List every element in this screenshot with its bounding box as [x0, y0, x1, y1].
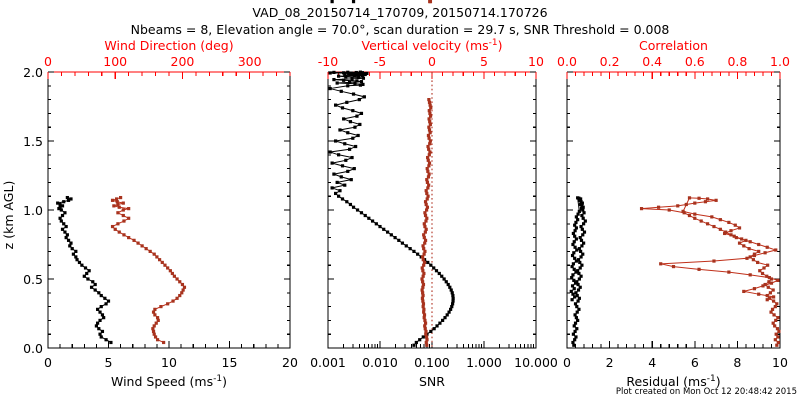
x-tick-label: 4	[648, 355, 656, 370]
data-point-marker	[581, 233, 584, 236]
x-top-tick-label: 200	[171, 54, 195, 69]
data-point-marker	[341, 106, 344, 109]
data-point-marker	[418, 338, 421, 341]
data-point-marker	[584, 219, 587, 222]
data-point-marker	[573, 324, 576, 327]
data-point-marker	[71, 247, 74, 250]
figure-title-line2: Nbeams = 8, Elevation angle = 70.0°, sca…	[131, 22, 670, 37]
data-point-marker	[423, 324, 426, 327]
data-point-marker	[425, 189, 428, 192]
data-point-marker	[88, 269, 91, 272]
data-point-marker	[331, 0, 334, 3]
data-point-marker	[422, 233, 425, 236]
data-point-marker	[367, 217, 370, 220]
data-point-marker	[693, 217, 696, 220]
data-point-marker	[425, 217, 428, 220]
data-point-marker	[348, 81, 351, 84]
data-point-marker	[338, 189, 341, 192]
data-point-marker	[357, 134, 360, 137]
data-point-marker	[329, 87, 332, 90]
data-point-marker	[420, 277, 423, 280]
data-point-marker	[166, 266, 169, 269]
data-point-marker	[118, 230, 121, 233]
data-point-marker	[423, 261, 426, 264]
data-point-marker	[425, 344, 428, 347]
data-point-marker	[427, 148, 430, 151]
data-point-marker	[576, 213, 579, 216]
data-point-marker	[423, 250, 426, 253]
data-point-marker	[574, 335, 577, 338]
data-point-marker	[573, 246, 576, 249]
data-point-marker	[676, 204, 679, 207]
x-tick-label: 10.000	[514, 355, 558, 370]
data-point-marker	[659, 262, 662, 265]
data-point-marker	[426, 167, 429, 170]
x-top-tick-label: -10	[318, 54, 338, 69]
data-point-marker	[572, 279, 575, 282]
data-point-marker	[757, 250, 760, 253]
data-point-marker	[425, 338, 428, 341]
data-point-marker	[579, 255, 582, 258]
data-point-marker	[96, 322, 99, 325]
data-point-marker	[346, 170, 349, 173]
data-point-marker	[348, 148, 351, 151]
data-point-marker	[401, 242, 404, 245]
data-point-marker	[141, 244, 144, 247]
data-point-marker	[578, 277, 581, 280]
data-point-marker	[450, 288, 453, 291]
data-point-marker	[83, 275, 86, 278]
data-point-marker	[94, 288, 97, 291]
data-point-marker	[571, 341, 574, 344]
data-point-marker	[582, 222, 585, 225]
data-point-marker	[428, 161, 431, 164]
data-point-marker	[574, 291, 577, 294]
x-tick-label: 8	[733, 355, 741, 370]
data-point-marker	[337, 75, 340, 78]
x-top-tick-label: 0.2	[600, 54, 620, 69]
data-point-marker	[342, 71, 345, 74]
data-point-marker	[700, 219, 703, 222]
data-point-marker	[116, 211, 119, 214]
data-point-marker	[422, 311, 425, 314]
data-point-marker	[688, 196, 691, 199]
data-point-marker	[109, 341, 112, 344]
data-point-marker	[163, 264, 166, 267]
data-point-marker	[428, 112, 431, 115]
data-point-marker	[697, 268, 700, 271]
data-point-marker	[740, 237, 743, 240]
data-point-marker	[441, 319, 444, 322]
data-point-marker	[115, 197, 118, 200]
data-point-marker	[351, 109, 354, 112]
data-point-marker	[575, 215, 578, 218]
data-point-marker	[338, 128, 341, 131]
x-top-tick-label: 0	[44, 54, 52, 69]
data-point-marker	[767, 286, 770, 289]
data-point-marker	[428, 120, 431, 123]
data-point-marker	[360, 80, 363, 83]
data-point-marker	[578, 210, 581, 213]
x-top-axis-label: Correlation	[639, 38, 708, 53]
y-tick-label: 1.0	[23, 203, 43, 218]
data-point-marker	[451, 302, 454, 305]
x-tick-label: 2	[606, 355, 614, 370]
x-tick-label: 20	[282, 355, 298, 370]
data-point-marker	[344, 159, 347, 162]
data-point-marker	[447, 311, 450, 314]
data-point-marker	[571, 298, 574, 301]
data-point-marker	[342, 79, 345, 82]
data-point-marker	[443, 316, 446, 319]
data-point-marker	[451, 291, 454, 294]
data-point-marker	[360, 112, 363, 115]
data-point-marker	[768, 276, 771, 279]
data-point-marker	[422, 308, 425, 311]
data-point-marker	[770, 282, 773, 285]
data-point-marker	[427, 134, 430, 137]
data-point-marker	[440, 275, 443, 278]
data-point-marker	[371, 219, 374, 222]
data-point-marker	[421, 286, 424, 289]
data-point-marker	[428, 153, 431, 156]
data-point-marker	[426, 170, 429, 173]
data-point-marker	[107, 299, 110, 302]
data-point-marker	[334, 192, 337, 195]
data-point-marker	[729, 229, 732, 232]
x-tick-label: 10	[772, 355, 788, 370]
data-point-marker	[116, 203, 119, 206]
data-point-marker	[762, 266, 765, 269]
data-point-marker	[364, 214, 367, 217]
data-point-marker	[425, 192, 428, 195]
data-point-marker	[422, 275, 425, 278]
data-point-marker	[451, 294, 454, 297]
data-point-marker	[573, 224, 576, 227]
data-point-marker	[429, 139, 432, 142]
data-point-marker	[742, 244, 745, 247]
data-point-marker	[100, 335, 103, 338]
data-point-marker	[149, 250, 152, 253]
data-point-marker	[749, 240, 752, 243]
data-point-marker	[69, 197, 72, 200]
data-point-marker	[426, 195, 429, 198]
data-point-marker	[424, 333, 427, 336]
data-point-marker	[421, 255, 424, 258]
data-point-marker	[405, 244, 408, 247]
data-point-marker	[375, 222, 378, 225]
data-point-marker	[95, 324, 98, 327]
svg-text:Wind Speed (ms-1): Wind Speed (ms-1)	[111, 374, 227, 389]
data-point-marker	[122, 208, 125, 211]
data-point-marker	[571, 243, 574, 246]
data-point-marker	[72, 253, 75, 256]
figure-title-line1: VAD_08_20150714_170709, 20150714.170726	[252, 5, 547, 20]
data-point-marker	[346, 131, 349, 134]
data-point-marker	[712, 225, 715, 228]
data-point-marker	[657, 206, 660, 209]
data-point-marker	[574, 322, 577, 325]
data-point-marker	[145, 247, 148, 250]
data-point-marker	[435, 324, 438, 327]
data-point-marker	[428, 0, 431, 3]
svg-text:Correlation: Correlation	[639, 38, 708, 53]
data-point-marker	[571, 284, 574, 287]
data-point-marker	[423, 222, 426, 225]
data-point-marker	[426, 145, 429, 148]
data-point-marker	[704, 200, 707, 203]
data-point-marker	[409, 247, 412, 250]
data-point-marker	[752, 258, 755, 261]
data-point-marker	[579, 250, 582, 253]
data-point-marker	[422, 283, 425, 286]
x-top-tick-label: 0.8	[727, 54, 747, 69]
data-point-marker	[424, 219, 427, 222]
svg-text:SNR: SNR	[419, 374, 445, 389]
data-point-marker	[693, 213, 696, 216]
data-point-marker	[572, 344, 575, 347]
data-point-marker	[733, 235, 736, 238]
x-tick-label: 1.000	[466, 355, 502, 370]
data-point-marker	[428, 109, 431, 112]
data-point-marker	[571, 254, 574, 257]
data-point-marker	[132, 239, 135, 242]
data-point-marker	[744, 239, 747, 242]
data-point-marker	[429, 115, 432, 118]
data-point-marker	[582, 242, 585, 245]
data-point-marker	[422, 305, 425, 308]
data-point-marker	[422, 272, 425, 275]
data-point-marker	[576, 218, 579, 221]
data-point-marker	[178, 280, 181, 283]
data-point-marker	[111, 225, 114, 228]
data-point-marker	[756, 261, 759, 264]
data-point-marker	[355, 71, 358, 74]
data-point-marker	[332, 71, 335, 74]
x-top-tick-label: 0.0	[557, 54, 577, 69]
data-point-marker	[122, 233, 125, 236]
data-point-marker	[63, 211, 66, 214]
data-point-marker	[574, 282, 577, 285]
data-point-marker	[426, 186, 429, 189]
x-tick-label: 0.100	[414, 355, 450, 370]
data-point-marker	[688, 214, 691, 217]
vad-profile-figure: VAD_08_20150714_170709, 20150714.170726 …	[0, 0, 800, 400]
data-point-marker	[452, 297, 455, 300]
data-point-marker	[772, 313, 775, 316]
data-point-marker	[572, 333, 575, 336]
data-point-marker	[378, 225, 381, 228]
data-point-marker	[448, 286, 451, 289]
data-point-marker	[365, 72, 368, 75]
data-point-marker	[774, 319, 777, 322]
data-point-marker	[423, 242, 426, 245]
data-point-marker	[772, 322, 775, 325]
data-point-marker	[576, 311, 579, 314]
data-point-marker	[775, 333, 778, 336]
data-point-marker	[573, 229, 576, 232]
data-point-marker	[423, 253, 426, 256]
data-point-marker	[426, 261, 429, 264]
data-point-marker	[575, 248, 578, 251]
data-point-marker	[571, 293, 574, 296]
data-point-marker	[573, 338, 576, 341]
data-point-marker	[738, 242, 741, 245]
data-point-marker	[427, 137, 430, 140]
data-point-marker	[423, 211, 426, 214]
data-point-marker	[426, 206, 429, 209]
data-point-marker	[353, 167, 356, 170]
data-point-marker	[640, 207, 643, 210]
data-point-marker	[180, 291, 183, 294]
data-point-marker	[112, 204, 115, 207]
data-point-marker	[423, 313, 426, 316]
data-point-marker	[580, 239, 583, 242]
data-point-marker	[155, 255, 158, 258]
data-point-marker	[353, 126, 356, 129]
data-point-marker	[579, 266, 582, 269]
data-point-marker	[570, 290, 573, 293]
data-point-marker	[349, 120, 352, 123]
data-point-marker	[574, 271, 577, 274]
data-point-marker	[152, 311, 155, 314]
data-point-marker	[668, 208, 671, 211]
x-tick-label: 0	[563, 355, 571, 370]
data-point-marker	[421, 266, 424, 269]
data-point-marker	[331, 186, 334, 189]
data-point-marker	[774, 338, 777, 341]
data-point-marker	[706, 197, 709, 200]
data-point-marker	[681, 210, 684, 213]
data-point-marker	[332, 173, 335, 176]
data-point-marker	[158, 258, 161, 261]
data-point-marker	[412, 344, 415, 347]
data-point-marker	[421, 294, 424, 297]
data-point-marker	[575, 327, 578, 330]
data-point-marker	[573, 313, 576, 316]
figure-canvas: VAD_08_20150714_170709, 20150714.170726 …	[0, 0, 800, 400]
data-point-marker	[422, 247, 425, 250]
data-point-marker	[423, 236, 426, 239]
data-point-marker	[772, 299, 775, 302]
x-top-tick-label: 100	[103, 54, 127, 69]
data-point-marker	[56, 202, 59, 205]
data-point-marker	[85, 272, 88, 275]
data-point-marker	[425, 178, 428, 181]
data-point-marker	[127, 236, 130, 239]
data-point-marker	[336, 81, 339, 84]
data-point-marker	[761, 272, 764, 275]
data-point-marker	[573, 257, 576, 260]
data-point-marker	[422, 258, 425, 261]
data-point-marker	[156, 338, 159, 341]
data-point-marker	[424, 327, 427, 330]
data-point-marker	[772, 295, 775, 298]
data-point-marker	[350, 156, 353, 159]
data-point-marker	[61, 228, 64, 231]
data-point-marker	[573, 240, 576, 243]
data-point-marker	[769, 311, 772, 314]
data-point-marker	[90, 286, 93, 289]
data-point-marker	[776, 316, 779, 319]
data-point-marker	[574, 302, 577, 305]
data-point-marker	[749, 273, 752, 276]
data-point-marker	[771, 308, 774, 311]
data-point-marker	[169, 269, 172, 272]
data-point-marker	[435, 269, 438, 272]
data-point-marker	[776, 279, 779, 282]
data-point-marker	[425, 208, 428, 211]
data-point-marker	[332, 78, 335, 81]
data-point-marker	[428, 101, 431, 104]
data-point-marker	[412, 250, 415, 253]
data-point-marker	[424, 330, 427, 333]
data-point-marker	[576, 299, 579, 302]
data-point-marker	[119, 196, 122, 199]
data-point-marker	[359, 71, 362, 74]
data-point-marker	[127, 217, 130, 220]
svg-text:Vertical velocity (ms-1): Vertical velocity (ms-1)	[361, 38, 502, 53]
data-point-marker	[416, 253, 419, 256]
data-point-marker	[390, 233, 393, 236]
data-point-marker	[445, 280, 448, 283]
data-point-marker	[429, 131, 432, 134]
data-point-marker	[355, 115, 358, 118]
data-point-marker	[582, 211, 585, 214]
data-point-marker	[104, 338, 107, 341]
x-top-tick-label: 1.0	[770, 54, 790, 69]
data-point-marker	[422, 335, 425, 338]
data-point-marker	[757, 243, 760, 246]
data-point-marker	[719, 218, 722, 221]
data-point-marker	[425, 341, 428, 344]
y-tick-label: 0.0	[23, 341, 43, 356]
data-point-marker	[352, 206, 355, 209]
data-point-marker	[153, 333, 156, 336]
data-point-marker	[340, 90, 343, 93]
data-point-marker	[159, 305, 162, 308]
data-point-marker	[171, 272, 174, 275]
data-point-marker	[766, 298, 769, 301]
data-point-marker	[67, 239, 70, 242]
data-point-marker	[693, 202, 696, 205]
data-point-marker	[581, 253, 584, 256]
data-point-marker	[573, 295, 576, 298]
data-point-marker	[426, 197, 429, 200]
data-point-marker	[429, 330, 432, 333]
data-point-marker	[352, 0, 355, 3]
data-point-marker	[427, 159, 430, 162]
data-point-marker	[578, 261, 581, 264]
data-point-marker	[571, 273, 574, 276]
data-point-marker	[342, 117, 345, 120]
data-point-marker	[427, 184, 430, 187]
data-point-marker	[579, 225, 582, 228]
data-point-marker	[766, 246, 769, 249]
data-point-marker	[386, 230, 389, 233]
x-top-tick-label: 0.4	[642, 54, 662, 69]
data-point-marker	[427, 126, 430, 129]
data-point-marker	[341, 164, 344, 167]
data-point-marker	[438, 272, 441, 275]
data-point-marker	[361, 83, 364, 86]
x-top-tick-label: 0	[428, 54, 436, 69]
data-point-marker	[78, 261, 81, 264]
data-point-marker	[424, 239, 427, 242]
x-top-tick-label: 10	[528, 54, 544, 69]
data-point-marker	[763, 251, 766, 254]
data-point-marker	[777, 341, 780, 344]
